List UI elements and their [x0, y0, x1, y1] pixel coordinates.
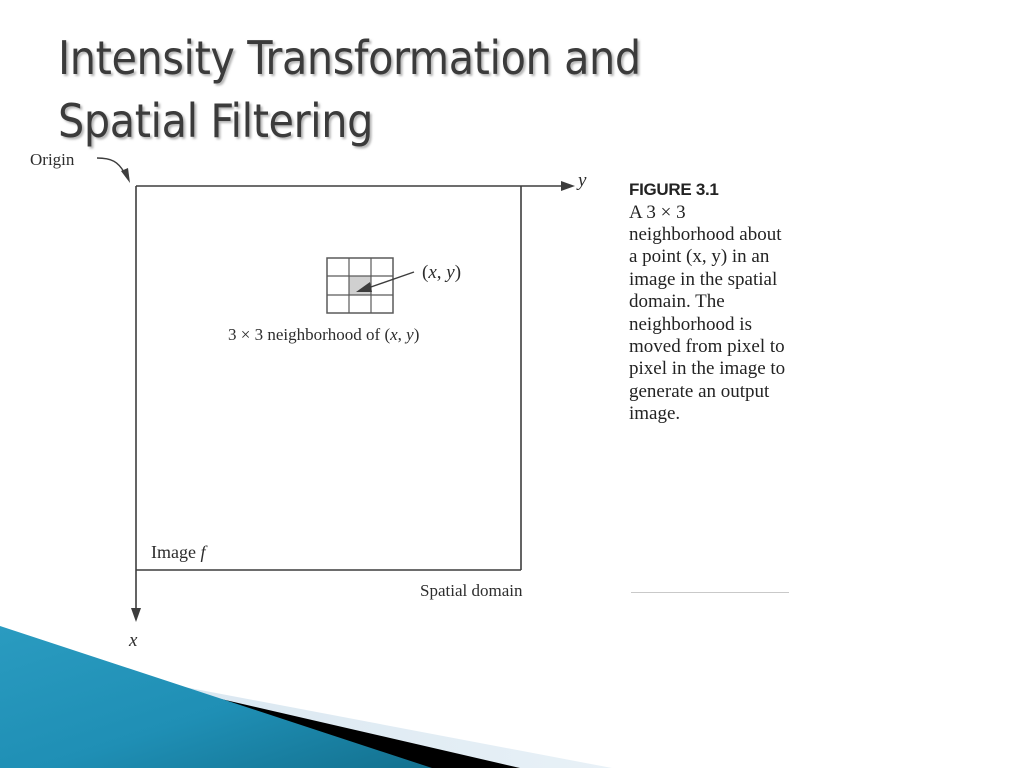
figure-caption-body: A 3 × 3 neighborhood about a point (x, y… — [629, 202, 791, 426]
spatial-domain-label: Spatial domain — [420, 581, 522, 601]
y-axis — [136, 181, 575, 191]
figure-caption-title: FIGURE 3.1 — [629, 180, 791, 200]
x-axis — [131, 186, 141, 622]
origin-label: Origin — [30, 150, 74, 170]
neighborhood-grid — [327, 258, 393, 313]
y-axis-label: y — [578, 170, 586, 192]
neighborhood-label-prefix: 3 × 3 neighborhood of — [228, 325, 384, 344]
caption-divider — [631, 592, 789, 593]
image-f-label: Image f — [151, 542, 206, 563]
figure-diagram: Origin y x (x, y) 3 × 3 neighborhood of … — [0, 0, 1024, 700]
figure-caption: FIGURE 3.1 A 3 × 3 neighborhood about a … — [629, 180, 791, 426]
x-axis-label: x — [129, 630, 137, 652]
origin-leader-arrow — [97, 158, 130, 183]
image-frame — [136, 186, 521, 570]
neighborhood-label: 3 × 3 neighborhood of (x, y) — [228, 325, 419, 345]
image-label-symbol: f — [200, 542, 205, 562]
point-xy-label: (x, y) — [422, 262, 461, 284]
image-label-prefix: Image — [151, 542, 200, 562]
slide: Intensity Transformation and Spatial Fil… — [0, 0, 1024, 768]
